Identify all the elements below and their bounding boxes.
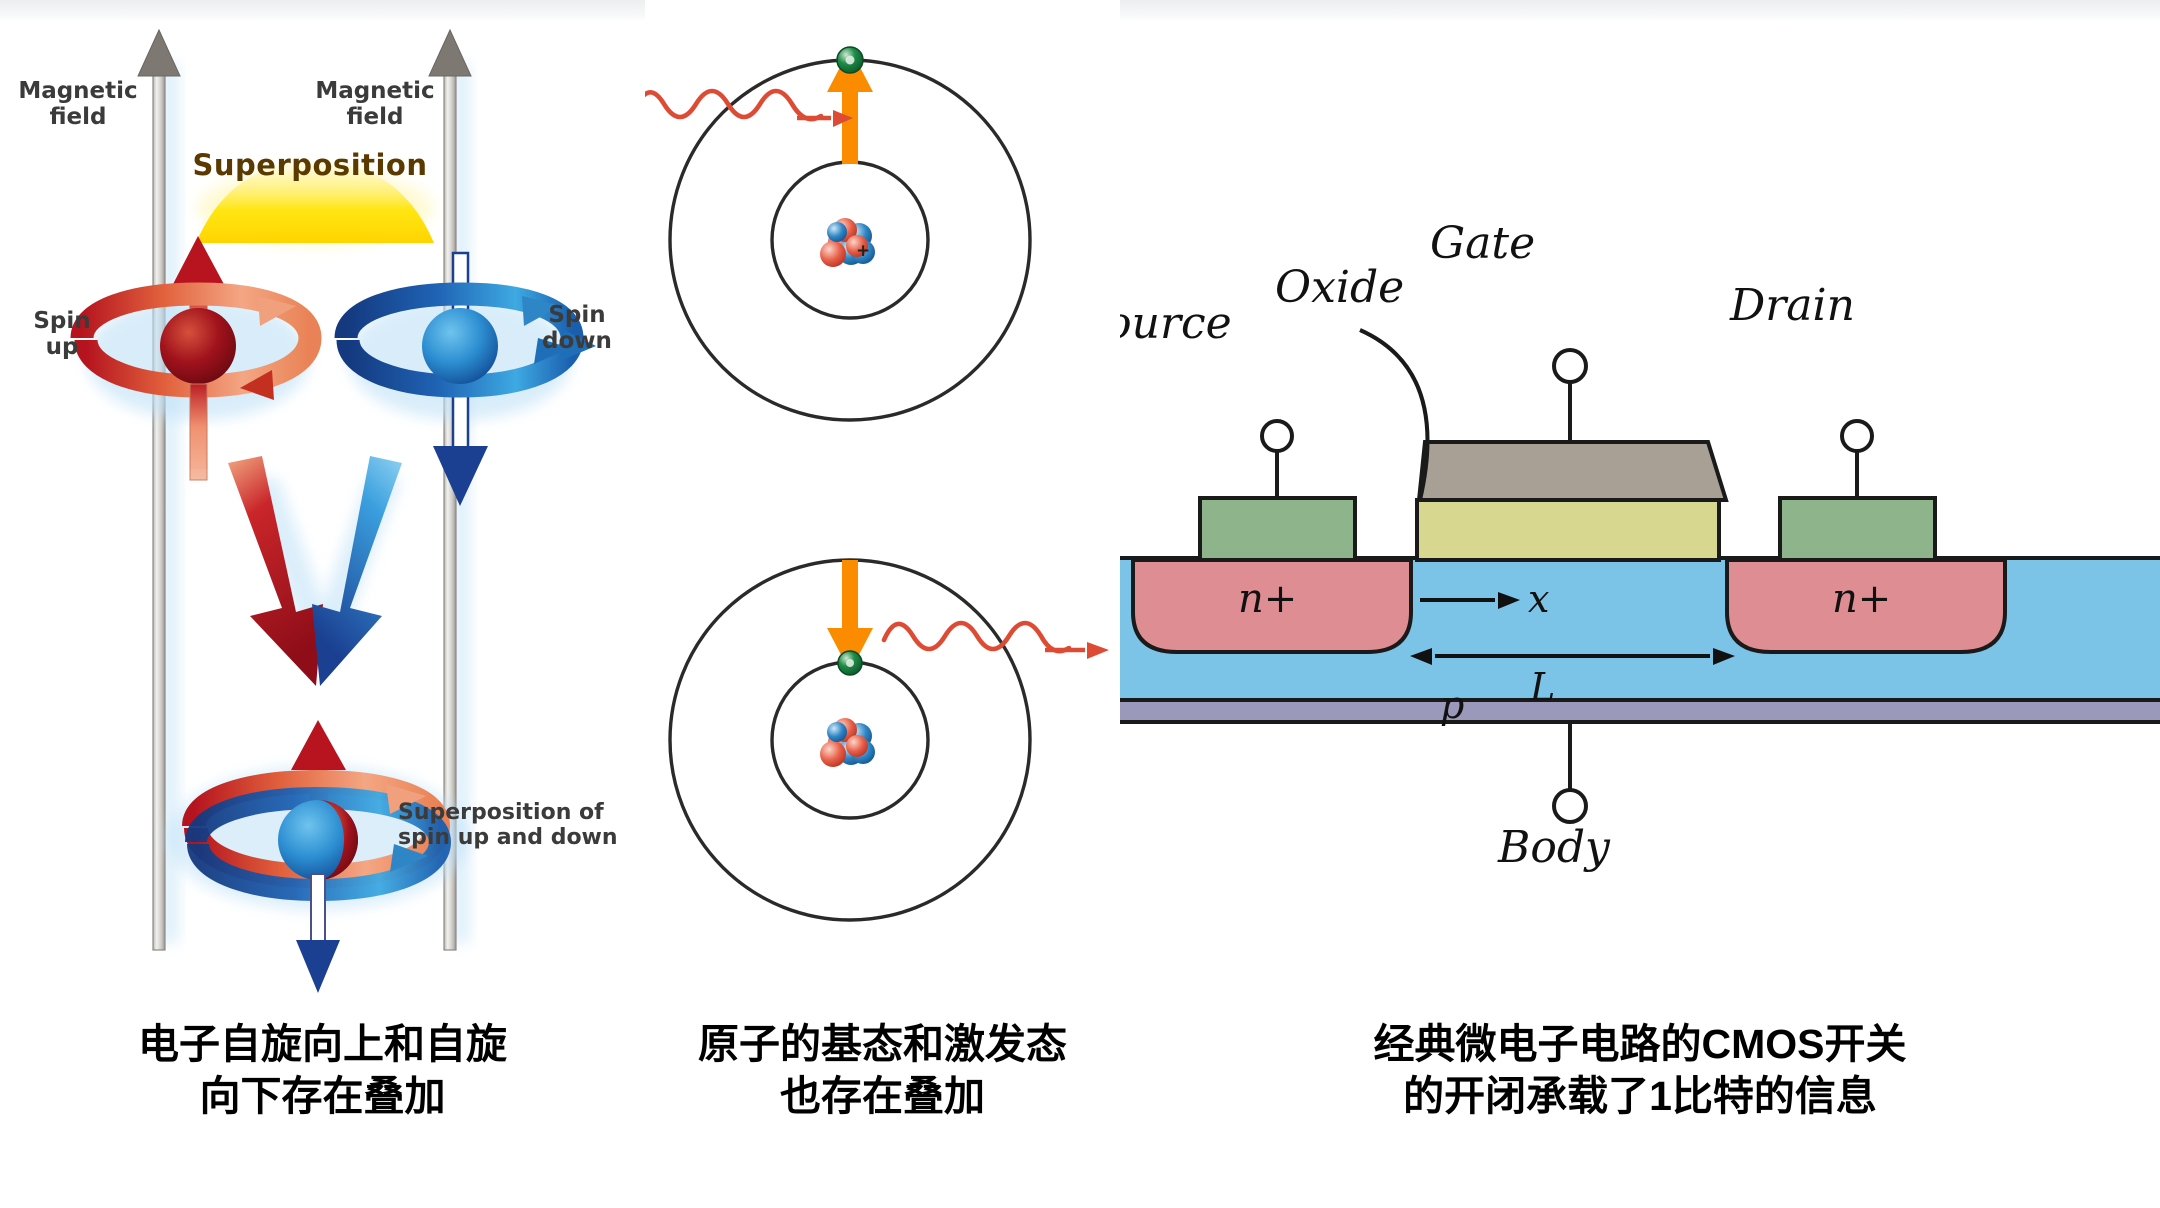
electron-inner [838, 651, 862, 675]
converging-v-arrows [228, 456, 402, 686]
nucleus-cluster-top: + [820, 218, 875, 267]
label-magnetic-field-right: Magnetic field [315, 78, 435, 131]
caption-atom-line-2: 也存在叠加 [645, 1070, 1120, 1122]
oxide-leader-line [1360, 330, 1428, 500]
label-source-text: Source [1120, 298, 1232, 349]
atom-diagram-relaxation [670, 560, 1109, 920]
nucleus-cluster-bottom [820, 718, 875, 767]
label-gate-text: Gate [1430, 218, 1535, 269]
source-contact-pad [1200, 498, 1355, 560]
label-superposition-of: Superposition of spin up and down [398, 800, 648, 851]
label-p-text: p [1440, 683, 1464, 727]
svg-text:+: + [856, 241, 870, 261]
caption-spin-line-1: 电子自旋向上和自旋 [0, 1018, 645, 1070]
spin-up-assembly [82, 236, 310, 480]
label-spin-up: Spin up [14, 308, 110, 361]
source-terminal [1262, 421, 1292, 451]
label-nplus-left-text: n+ [1238, 576, 1297, 622]
label-oxide-text: Oxide [1275, 262, 1404, 313]
caption-spin-line-2: 向下存在叠加 [0, 1070, 645, 1122]
label-x-text: x [1528, 577, 1549, 621]
body-contact-strip [1120, 700, 2160, 722]
panel-cmos-switch: n+ n+ [1120, 0, 2160, 1208]
label-magnetic-field-left: Magnetic field [18, 78, 138, 131]
label-spin-down: Spin down [522, 302, 632, 355]
caption-cmos-line-1: 经典微电子电路的CMOS开关 [1120, 1018, 2160, 1070]
drain-contact-pad [1780, 498, 1935, 560]
panel-spin-superposition: Magnetic field Magnetic field Spin up Sp… [0, 0, 645, 1208]
label-body-text: Body [1497, 822, 1611, 873]
label-nplus-right-text: n+ [1832, 576, 1891, 622]
superposition-assembly [168, 720, 468, 993]
electron-outer [837, 47, 863, 73]
oxide-layer [1417, 500, 1719, 560]
photon-incoming [645, 91, 853, 127]
gate-electrode [1419, 442, 1726, 500]
label-superposition-badge: Superposition [140, 148, 480, 182]
caption-panel-atom: 原子的基态和激发态 也存在叠加 [645, 1018, 1120, 1123]
caption-cmos-line-2: 的开闭承载了1比特的信息 [1120, 1070, 2160, 1122]
atom-diagram-excitation: + [645, 47, 1030, 420]
caption-panel-spin: 电子自旋向上和自旋 向下存在叠加 [0, 1018, 645, 1123]
photon-outgoing [884, 623, 1109, 659]
atom-states-illustration: + [645, 0, 1120, 990]
label-drain-text: Drain [1729, 280, 1855, 331]
gate-terminal [1554, 350, 1586, 382]
panel-atom-states: + [645, 0, 1120, 1208]
mosfet-cross-section-illustration: n+ n+ [1120, 0, 2160, 990]
label-L-text: L [1529, 665, 1555, 709]
drain-terminal [1842, 421, 1872, 451]
caption-panel-cmos: 经典微电子电路的CMOS开关 的开闭承载了1比特的信息 [1120, 1018, 2160, 1123]
body-terminal [1554, 790, 1586, 822]
caption-atom-line-1: 原子的基态和激发态 [645, 1018, 1120, 1070]
